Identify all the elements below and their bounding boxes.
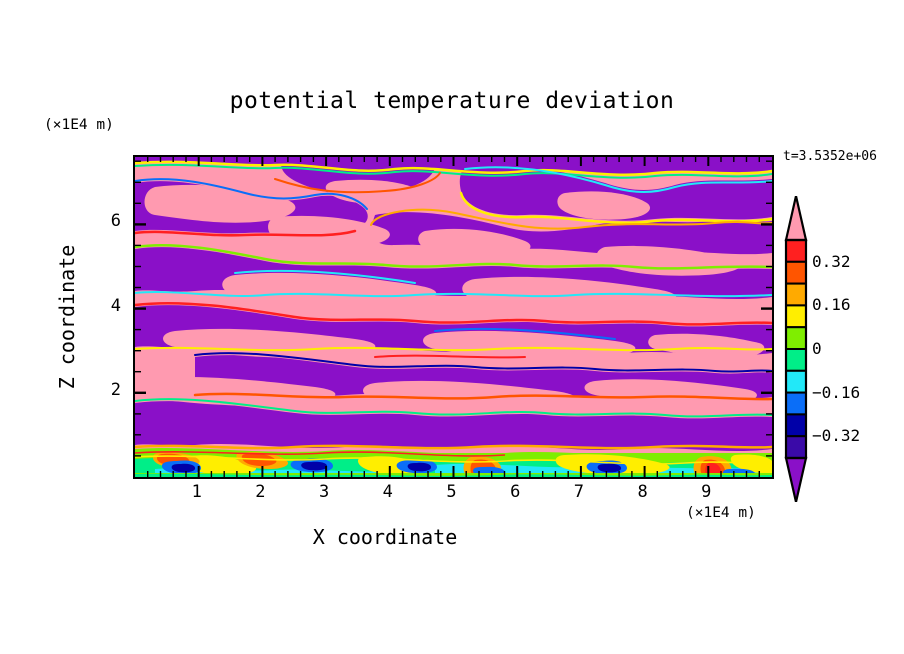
colorbar-band	[786, 262, 806, 284]
x-tick-label: 5	[432, 482, 472, 502]
contour-field	[135, 157, 772, 477]
z-tick-label: 6	[95, 211, 121, 231]
y-axis-unit-label: (×1E4 m)	[44, 117, 114, 133]
x-tick-label: 6	[495, 482, 535, 502]
colorbar-band	[786, 393, 806, 415]
contour-plot-area	[133, 155, 774, 479]
colorbar-swatches	[784, 196, 808, 502]
z-axis-title: Z coordinate	[55, 227, 79, 407]
colorbar-band	[786, 284, 806, 306]
x-axis-unit-label: (×1E4 m)	[686, 505, 756, 521]
x-tick-label: 2	[240, 482, 280, 502]
colorbar-band	[786, 371, 806, 393]
colorbar-band	[786, 436, 806, 458]
colorbar-tick-label: 0.32	[812, 252, 851, 271]
colorbar-band	[786, 414, 806, 436]
colorbar-tick-label: −0.32	[812, 426, 860, 445]
colorbar-band	[786, 240, 806, 262]
x-tick-label: 8	[623, 482, 663, 502]
colorbar-tick-label: −0.16	[812, 383, 860, 402]
z-tick-label: 4	[95, 296, 121, 316]
x-tick-label: 4	[368, 482, 408, 502]
x-axis-title: X coordinate	[0, 525, 770, 549]
colorbar-band	[786, 349, 806, 371]
colorbar-band	[786, 327, 806, 349]
page-title: potential temperature deviation	[0, 88, 904, 114]
x-tick-label: 7	[559, 482, 599, 502]
colorbar[interactable]	[784, 196, 808, 502]
time-annotation: t=3.5352e+06	[783, 149, 877, 164]
x-tick-label: 3	[304, 482, 344, 502]
colorbar-band	[786, 305, 806, 327]
z-tick-label: 2	[95, 380, 121, 400]
x-tick-label: 1	[177, 482, 217, 502]
x-tick-label: 9	[686, 482, 726, 502]
colorbar-tick-labels: 0.320.160−0.16−0.32	[812, 196, 902, 502]
colorbar-tick-label: 0.16	[812, 295, 851, 314]
colorbar-tick-label: 0	[812, 339, 822, 358]
